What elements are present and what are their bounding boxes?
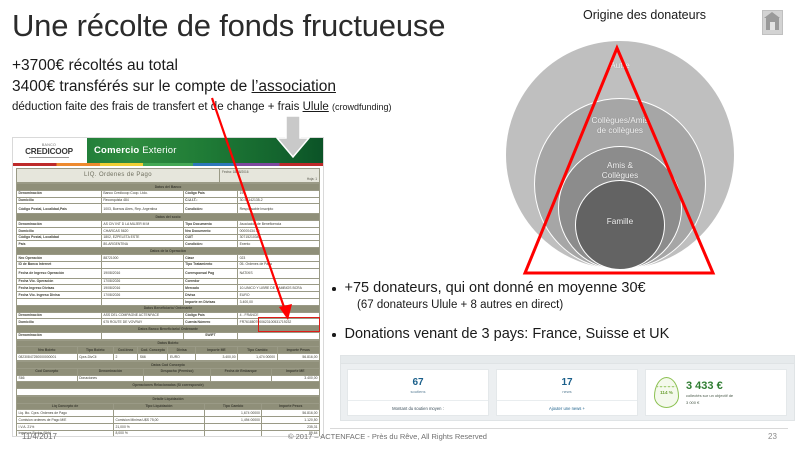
red-arrow-annotation	[0, 0, 800, 450]
slide: Une récolte de fonds fructueuse +3700€ r…	[0, 0, 800, 450]
